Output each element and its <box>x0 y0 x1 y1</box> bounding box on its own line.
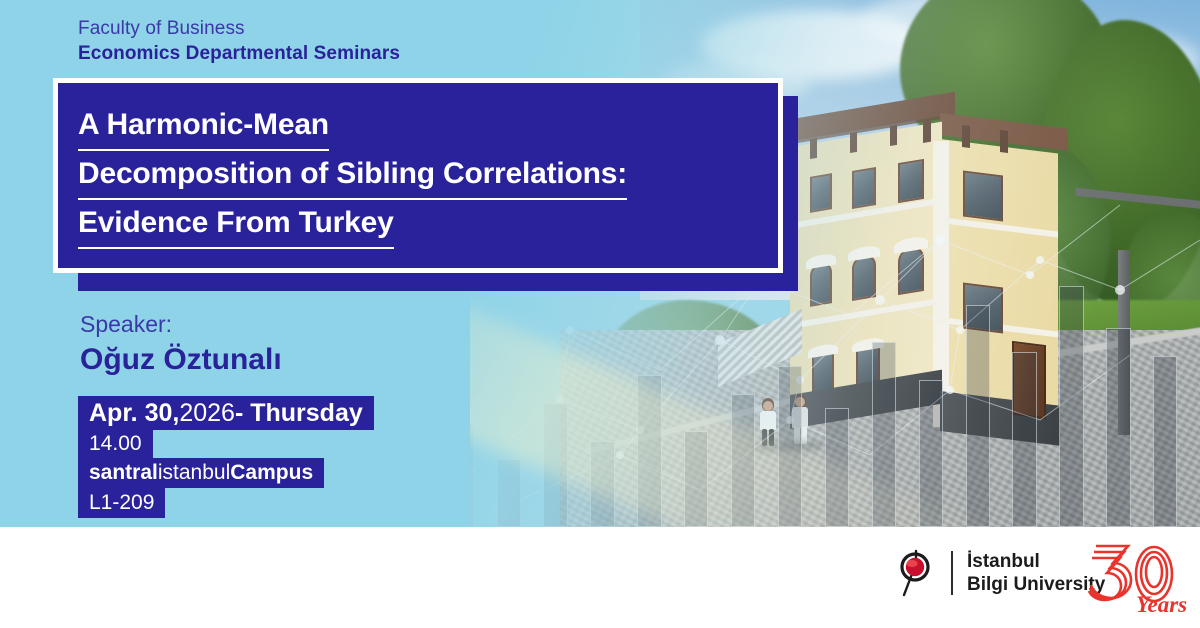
university-logo: İstanbul Bilgi University <box>893 548 1105 598</box>
title-line-1: A Harmonic-Mean <box>78 104 329 151</box>
title-line-3: Evidence From Turkey <box>78 202 394 249</box>
time-badge: 14.00 <box>78 430 153 458</box>
date-year: 2026 <box>179 399 235 428</box>
speaker-label: Speaker: <box>80 310 172 338</box>
header-block: Faculty of Business Economics Department… <box>78 16 400 66</box>
logo-divider <box>951 551 953 595</box>
date-bold-part: Apr. 30, <box>89 399 179 428</box>
campus-regular-part: istanbul <box>158 461 230 485</box>
campus-badge: santral istanbul Campus <box>78 458 324 488</box>
time-value: 14.00 <box>89 432 142 456</box>
bilgi-pin-icon <box>893 548 937 598</box>
campus-word: Campus <box>230 461 313 485</box>
date-weekday: - Thursday <box>235 399 363 428</box>
title-line-2: Decomposition of Sibling Correlations: <box>78 153 627 200</box>
room-value: L1-209 <box>89 491 154 515</box>
date-badge: Apr. 30, 2026 - Thursday <box>78 396 374 430</box>
seminar-poster: Faculty of Business Economics Department… <box>0 0 1200 628</box>
room-badge: L1-209 <box>78 488 165 518</box>
speaker-name: Oğuz Öztunalı <box>80 341 282 379</box>
faculty-label: Faculty of Business <box>78 16 400 41</box>
anniversary-logo: Years <box>1080 542 1188 618</box>
campus-bold-part: santral <box>89 461 158 485</box>
page-title: A Harmonic-Mean Decomposition of Sibling… <box>78 104 778 251</box>
anniversary-word: Years <box>1136 592 1187 617</box>
seminar-series-label: Economics Departmental Seminars <box>78 41 400 66</box>
